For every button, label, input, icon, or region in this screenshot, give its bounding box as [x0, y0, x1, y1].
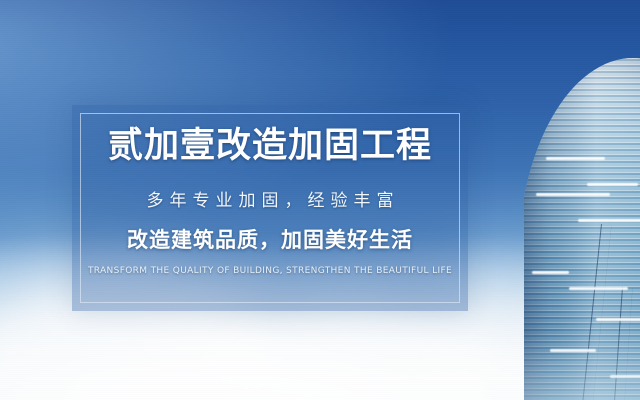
panel-content: 贰加壹改造加固工程 多年专业加固，经验丰富 改造建筑品质，加固美好生活 TRAN… — [72, 105, 468, 311]
skyscraper-image — [524, 58, 640, 400]
english-tagline-text: TRANSFORM THE QUALITY OF BUILDING, STREN… — [88, 266, 452, 276]
banner-stage: 贰加壹改造加固工程 多年专业加固，经验丰富 改造建筑品质，加固美好生活 TRAN… — [0, 0, 640, 400]
tagline-text: 改造建筑品质，加固美好生活 — [127, 224, 413, 254]
subtitle-text: 多年专业加固，经验丰富 — [141, 186, 400, 211]
headline-title: 贰加壹改造加固工程 — [108, 129, 432, 164]
hero-panel: 贰加壹改造加固工程 多年专业加固，经验丰富 改造建筑品质，加固美好生活 TRAN… — [72, 105, 468, 311]
